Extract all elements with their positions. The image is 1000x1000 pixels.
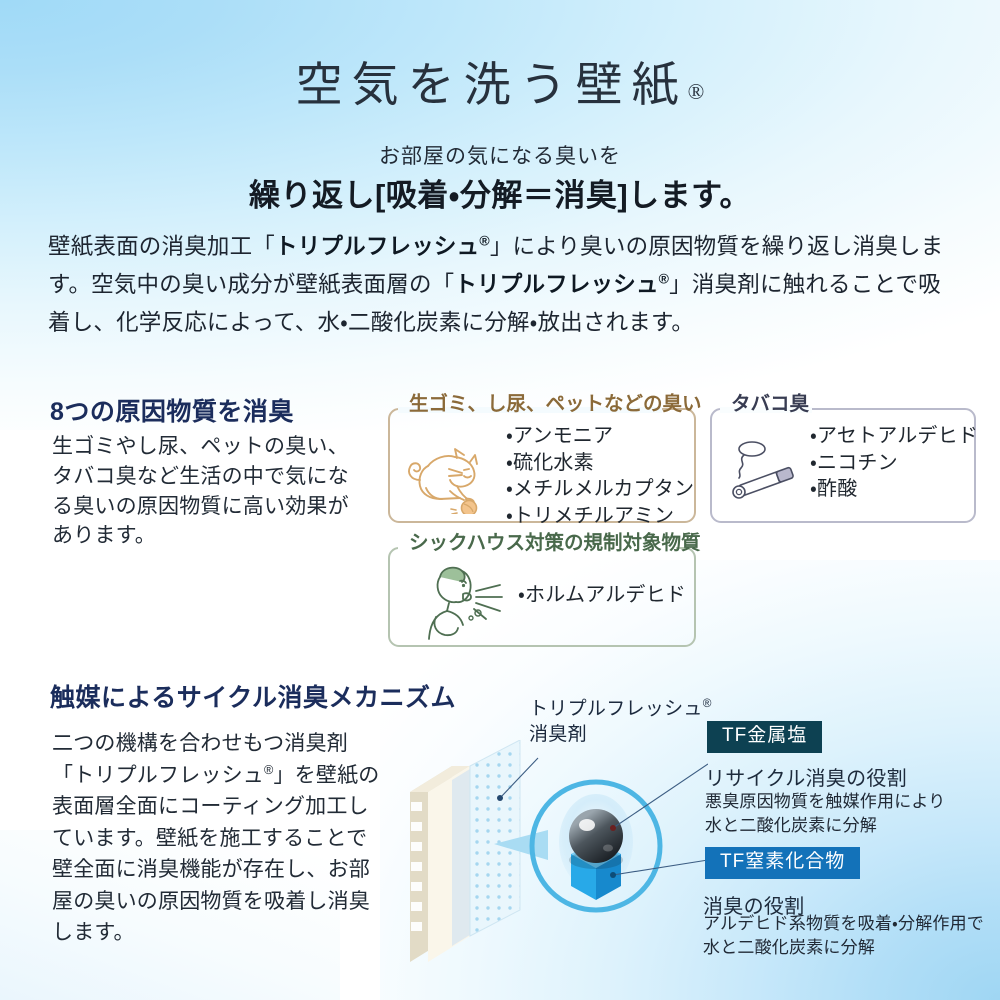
- leader-dot-sphere: [610, 825, 616, 831]
- callout-body-nitrogen: アルデヒド系物質を吸着・分解作用で水と二酸化炭素に分解: [703, 912, 984, 960]
- registered-trademark-icon: ®: [659, 270, 669, 286]
- brand-name-2: トリプルフレッシュ®: [454, 272, 669, 297]
- callout-title-metal-salt: リサイクル消臭の役割: [705, 762, 907, 791]
- list-item: ・ホルムアルデヒド: [518, 582, 686, 609]
- odor-box-tobacco-items: ・アセトアルデヒド ・ニコチン ・酢酸: [810, 423, 978, 503]
- odor-box-tobacco-legend: タバコ臭: [724, 395, 816, 415]
- leader-dot-cube: [610, 872, 616, 878]
- registered-trademark-icon: ®: [479, 233, 489, 249]
- list-item: ・酢酸: [810, 476, 978, 503]
- registered-trademark-icon: ®: [688, 79, 705, 104]
- list-item: ・メチルメルカプタン: [506, 476, 694, 503]
- odor-box-waste: 生ゴミ、し尿、ペットなどの臭い: [388, 408, 696, 523]
- wallpaper-cross-section-diagram: [408, 740, 708, 980]
- diagram-caption-brand: トリプルフレッシュ: [529, 698, 703, 719]
- person-coughing-icon: [416, 561, 504, 646]
- odor-box-tobacco: タバコ臭 ・アセトアルデヒド ・ニコチン ・酢酸: [710, 408, 976, 523]
- page-title-text: 空気を洗う壁紙: [296, 60, 688, 112]
- callout-body-line: 水と二酸化炭素に分解: [705, 814, 945, 838]
- brand-text-1: トリプルフレッシュ: [275, 234, 479, 259]
- callout-body-line: 水と二酸化炭素に分解: [703, 936, 984, 960]
- mechanism-text-b: 」を壁紙の表面層全面にコーティング加工しています。壁紙を施工することで壁全面に消…: [52, 764, 379, 945]
- section-heading-mechanism: 触媒によるサイクル消臭メカニズム: [50, 678, 456, 714]
- tf-metal-sphere: [569, 809, 623, 869]
- leader-dot-surface: [497, 795, 503, 801]
- callout-body-metal-salt: 悪臭原因物質を触媒作用により水と二酸化炭素に分解: [705, 790, 945, 838]
- diagram-caption-suffix: 消臭剤: [529, 724, 587, 745]
- odor-box-sickhouse-items: ・ホルムアルデヒド: [518, 582, 686, 609]
- badge-tf-nitrogen-compound: TF窒素化合物: [705, 847, 860, 879]
- brand-name-1: トリプルフレッシュ®: [275, 234, 490, 259]
- section-body-mechanism: 二つの機構を合わせもつ消臭剤「トリプルフレッシュ®」を壁紙の表面層全面にコーティ…: [52, 728, 382, 949]
- cat-playing-icon: [402, 436, 502, 519]
- section-body-odor: 生ゴミやし尿、ペットの臭い、タバコ臭など生活の中で気になる臭いの原因物質に高い効…: [52, 432, 352, 551]
- section-heading-odor: 8つの原因物質を消臭: [50, 392, 294, 428]
- list-item: ・トリメチルアミン: [506, 503, 694, 530]
- registered-trademark-icon: ®: [703, 697, 712, 710]
- odor-box-waste-legend: 生ゴミ、し尿、ペットなどの臭い: [402, 395, 709, 415]
- cigarette-smoke-icon: [726, 440, 806, 507]
- list-item: ・アセトアルデヒド: [810, 423, 978, 450]
- intro-text-a: 壁紙表面の消臭加工「: [48, 234, 275, 259]
- lead-line-1: お部屋の気になる臭いを: [0, 140, 1000, 170]
- callout-body-line: アルデヒド系物質を吸着・分解作用で: [703, 912, 984, 936]
- intro-paragraph: 壁紙表面の消臭加工「トリプルフレッシュ®」により臭いの原因物質を繰り返し消臭しま…: [48, 228, 958, 341]
- brand-text-2: トリプルフレッシュ: [454, 272, 658, 297]
- callout-body-line: 悪臭原因物質を触媒作用により: [705, 790, 945, 814]
- list-item: ・硫化水素: [506, 450, 694, 477]
- page-title: 空気を洗う壁紙®: [0, 46, 1000, 115]
- odor-box-sickhouse-legend: シックハウス対策の規制対象物質: [402, 534, 708, 554]
- wallpaper-surface-layer: [470, 740, 520, 936]
- list-item: ・ニコチン: [810, 450, 978, 477]
- odor-box-waste-items: ・アンモニア ・硫化水素 ・メチルメルカプタン ・トリメチルアミン: [506, 423, 694, 529]
- odor-box-sickhouse: シックハウス対策の規制対象物質: [388, 547, 696, 647]
- lead-line-2: 繰り返し[吸着・分解＝消臭]します。: [0, 170, 1000, 215]
- badge-tf-metal-salt: TF金属塩: [707, 721, 822, 753]
- list-item: ・アンモニア: [506, 423, 694, 450]
- diagram-caption-triplefresh: トリプルフレッシュ®消臭剤: [529, 696, 712, 748]
